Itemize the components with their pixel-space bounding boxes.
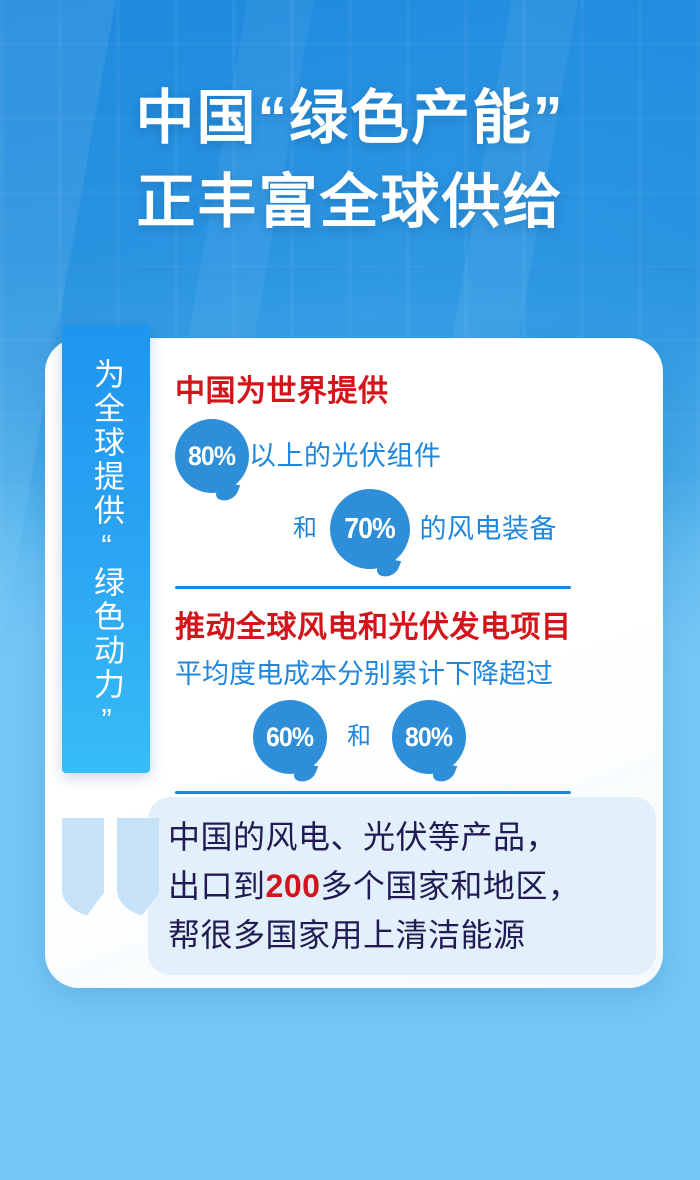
page-title: 中国“绿色产能” 正丰富全球供给 — [0, 76, 700, 244]
quote-line-2: 出口到200多个国家和地区， — [168, 862, 638, 911]
section-1-row-2: 和 70% 的风电装备 — [175, 489, 645, 569]
section-2-subtext: 平均度电成本分别累计下降超过 — [175, 654, 645, 694]
section-1: 中国为世界提供 80% 以上的光伏组件 和 70% 的风电装备 — [175, 372, 645, 589]
quote-line-3: 帮很多国家用上清洁能源 — [168, 911, 638, 960]
section-2-heading: 推动全球风电和光伏发电项目 — [175, 608, 645, 648]
side-tab: 为全球提供“绿色动力” — [62, 325, 150, 773]
section-2-connector: 和 — [347, 725, 372, 749]
stat-bubble-value: 80% — [405, 724, 452, 751]
quote-line-1: 中国的风电、光伏等产品， — [168, 813, 638, 862]
stat-bubble-80-pv: 80% — [175, 419, 249, 493]
quote-block: 中国的风电、光伏等产品， 出口到200多个国家和地区， 帮很多国家用上清洁能源 — [148, 797, 656, 975]
section-1-heading: 中国为世界提供 — [175, 372, 645, 412]
section-1-row-1-text: 以上的光伏组件 — [249, 443, 442, 470]
section-1-row-2-text: 的风电装备 — [420, 516, 558, 543]
divider-1 — [175, 586, 571, 589]
quote-number: 200 — [266, 868, 321, 904]
stat-bubble-value: 70% — [344, 515, 395, 544]
infographic-poster: 中国“绿色产能” 正丰富全球供给 为全球提供“绿色动力” 中国为世界提供 80%… — [0, 0, 700, 1180]
divider-2 — [175, 791, 571, 794]
section-2: 推动全球风电和光伏发电项目 平均度电成本分别累计下降超过 60% 和 80% — [175, 608, 645, 794]
quotation-mark-icon — [62, 818, 159, 892]
title-line-2: 正丰富全球供给 — [0, 160, 700, 244]
stat-bubble-value: 80% — [189, 443, 236, 470]
side-tab-label: 为全球提供“绿色动力” — [84, 358, 128, 740]
stat-bubble-value: 60% — [267, 724, 314, 751]
title-line-1: 中国“绿色产能” — [0, 76, 700, 160]
section-1-row-2-prefix: 和 — [293, 517, 318, 541]
quote-line-2-prefix: 出口到 — [168, 868, 266, 904]
quote-line-2-suffix: 多个国家和地区， — [320, 868, 580, 904]
section-1-row-1: 80% 以上的光伏组件 — [175, 419, 645, 493]
content-column: 中国为世界提供 80% 以上的光伏组件 和 70% 的风电装备 推动全球风电和光… — [175, 372, 645, 794]
footer: 人民网 people.cn 数 读 中 国 — [0, 1040, 700, 1160]
section-2-bubble-row: 60% 和 80% — [175, 700, 645, 774]
stat-bubble-80-cost: 80% — [392, 700, 466, 774]
stat-bubble-60-cost: 60% — [253, 700, 327, 774]
stat-bubble-70-wind: 70% — [330, 489, 410, 569]
